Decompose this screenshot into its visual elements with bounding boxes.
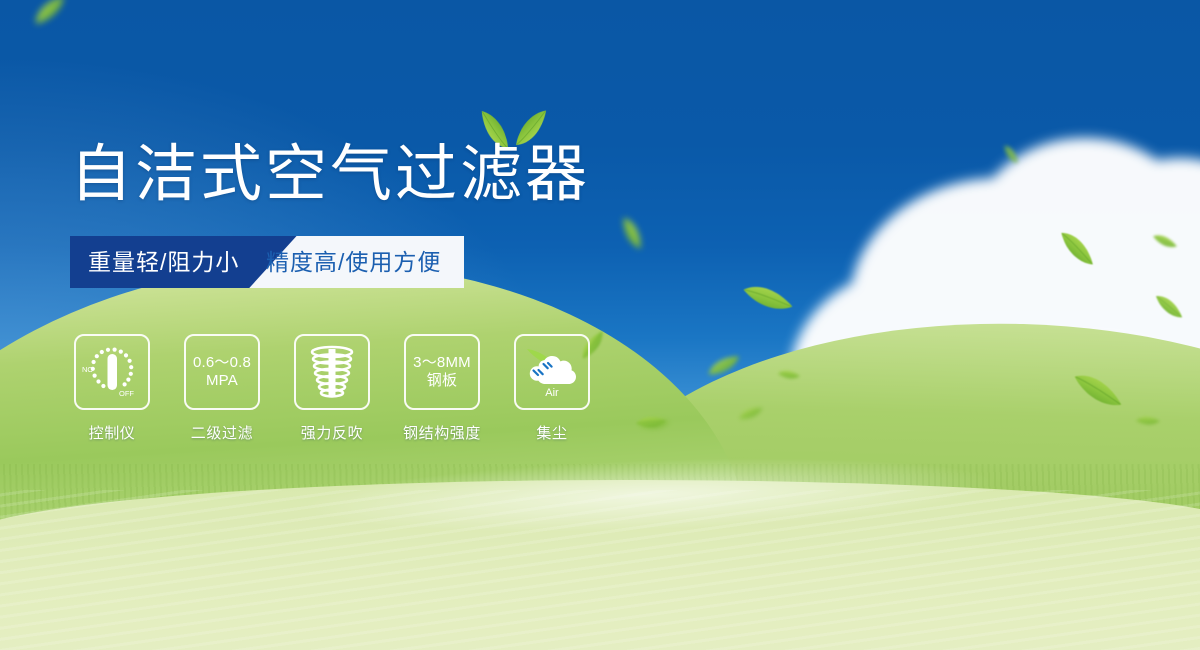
dial-off-label: OFF xyxy=(119,389,134,398)
page-title: 自洁式空气过滤器 xyxy=(70,144,590,206)
feature-item-dust[interactable]: Air 集尘 xyxy=(514,334,590,443)
air-cloud-icon: Air xyxy=(514,334,590,410)
field-sheen xyxy=(0,490,1200,650)
feature-label-blowback: 强力反吹 xyxy=(301,422,363,443)
steel-line-2: 钢板 xyxy=(413,372,471,390)
subtitle-right-text: 精度高/使用方便 xyxy=(266,236,441,288)
feature-item-pressure[interactable]: 0.6～0.8 MPA 二级过滤 xyxy=(184,334,260,443)
subtitle-bar: 重量轻/阻力小 精度高/使用方便 xyxy=(70,236,464,288)
pressure-value-icon: 0.6～0.8 MPA xyxy=(184,334,260,410)
feature-label-control: 控制仪 xyxy=(89,422,136,443)
feature-item-steel[interactable]: 3～8MM 钢板 钢结构强度 xyxy=(404,334,480,443)
pressure-line-2: MPA xyxy=(193,372,251,390)
feature-label-steel: 钢结构强度 xyxy=(403,422,481,443)
product-banner: 自洁式空气过滤器 重量轻/阻力小 精度高/使用方便 xyxy=(0,0,1200,650)
feature-label-dust: 集尘 xyxy=(536,422,567,443)
dial-on-label: NO xyxy=(82,365,93,374)
steel-line-1: 3～8MM xyxy=(413,354,471,372)
feature-label-pressure: 二级过滤 xyxy=(191,422,253,443)
subtitle-left-text: 重量轻/阻力小 xyxy=(88,236,239,288)
pressure-line-1: 0.6～0.8 xyxy=(193,354,251,372)
feature-item-blowback[interactable]: 强力反吹 xyxy=(294,334,370,443)
feature-item-control[interactable]: NO OFF 控制仪 xyxy=(74,334,150,443)
air-label: Air xyxy=(545,387,559,399)
feature-list: NO OFF 控制仪 0.6～0.8 MPA 二级过滤 xyxy=(74,334,590,443)
filter-cartridge-icon xyxy=(294,334,370,410)
control-dial-icon: NO OFF xyxy=(74,334,150,410)
steel-plate-icon: 3～8MM 钢板 xyxy=(404,334,480,410)
